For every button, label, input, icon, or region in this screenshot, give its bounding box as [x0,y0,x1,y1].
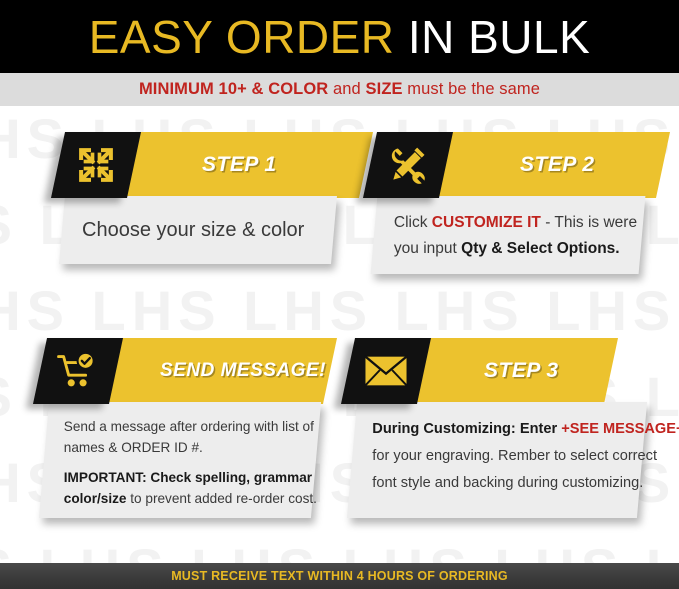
card-body-inner: Send a message after ordering with list … [44,402,316,523]
body-line: font style and backing during customizin… [372,470,624,497]
body-line: During Customizing: Enter +SEE MESSAGE+ [372,416,624,443]
body-bold: Check spelling, grammar [147,470,312,485]
card-icon-badge [341,338,431,404]
subheader-segment-2: and [333,80,361,98]
body-bold: Qty & Select Options. [461,240,619,257]
footer-text: MUST RECEIVE TEXT WITHIN 4 HOURS OF ORDE… [171,569,508,583]
body-spacer [64,458,298,467]
card-body: During Customizing: Enter +SEE MESSAGE+ … [347,402,647,518]
subheader-segment-1: MINIMUM 10+ & COLOR [139,80,328,98]
card-header: SEND MESSAGE! [40,338,316,404]
card-icon-badge [363,132,453,198]
card-step2: STEP 2 [370,132,642,274]
body-text: Send a message after ordering with list … [64,419,314,434]
banner-label: STEP 1 [202,153,277,177]
banner-label: STEP 3 [484,359,559,383]
expand-arrows-icon [75,144,117,186]
body-line: you input Qty & Select Options. [394,236,624,262]
card-header: STEP 3 [348,338,642,404]
page-title: EASY ORDER IN BULK [89,10,591,64]
body-line: Send a message after ordering with list … [64,416,298,437]
body-text: for your engraving. Rember to select cor… [372,448,657,464]
body-text: you input [394,240,461,257]
body-text: names & ORDER ID #. [64,440,203,455]
subheader-text: MINIMUM 10+ & COLOR and SIZE must be the… [139,80,540,99]
body-highlight: CUSTOMIZE IT [432,214,541,231]
body-text: font style and backing during customizin… [372,475,643,491]
card-body: Send a message after ordering with list … [39,402,321,518]
body-text: Choose your size & color [82,219,304,241]
body-line: Choose your size & color [82,210,316,250]
card-banner: STEP 1 [109,132,373,198]
body-bold: color/size [64,491,127,506]
title-gold-part: EASY ORDER [89,11,395,63]
title-white-part: IN BULK [408,11,590,63]
card-icon-badge [33,338,123,404]
body-line: IMPORTANT: Check spelling, grammar [64,467,298,488]
subheader-segment-4: must be the same [407,80,540,98]
body-text: to prevent added re-order cost. [127,491,317,506]
card-step1: STEP 1 [58,132,334,264]
body-line: color/size to prevent added re-order cos… [64,488,298,509]
infographic-poster: LHS LHS LHS LHS LHS LHS LHS LHS LHS LHS … [0,0,679,589]
body-line: for your engraving. Rember to select cor… [372,443,624,470]
card-body-inner: Choose your size & color [62,196,334,264]
card-banner: STEP 2 [421,132,670,198]
body-bold: During Customizing: Enter [372,421,561,437]
body-bold: IMPORTANT: [64,470,147,485]
card-body: Click CUSTOMIZE IT - This is were you in… [371,196,646,274]
footer-bar: MUST RECEIVE TEXT WITHIN 4 HOURS OF ORDE… [0,563,679,589]
card-header: STEP 2 [370,132,642,198]
body-highlight: +SEE MESSAGE+ [561,421,679,437]
card-body: Choose your size & color [59,196,337,264]
envelope-icon [363,354,409,388]
card-header: STEP 1 [58,132,334,198]
banner-label: SEND MESSAGE! [160,360,326,382]
banner-label: STEP 2 [520,153,595,177]
card-send-message: SEND MESSAGE! [40,338,316,518]
body-line: Click CUSTOMIZE IT - This is were [394,210,624,236]
card-step3: STEP 3 During Customizing: Enter +SEE ME… [348,338,642,518]
header-bar: EASY ORDER IN BULK [0,0,679,73]
card-body-inner: During Customizing: Enter +SEE MESSAGE+ … [352,402,642,511]
body-line: names & ORDER ID #. [64,437,298,458]
card-banner: SEND MESSAGE! [91,338,337,404]
subheader-bar: MINIMUM 10+ & COLOR and SIZE must be the… [0,73,679,106]
card-banner: STEP 3 [399,338,618,404]
card-icon-badge [51,132,141,198]
subheader-segment-3: SIZE [366,80,403,98]
watermark-row: LHS LHS LHS LHS LHS LHS LHS LHS [0,526,679,566]
card-body-inner: Click CUSTOMIZE IT - This is were you in… [374,196,642,276]
cart-check-icon [56,351,100,391]
body-text: - This is were [541,214,637,231]
wrench-pencil-icon [386,143,430,187]
body-text: Click [394,214,432,231]
